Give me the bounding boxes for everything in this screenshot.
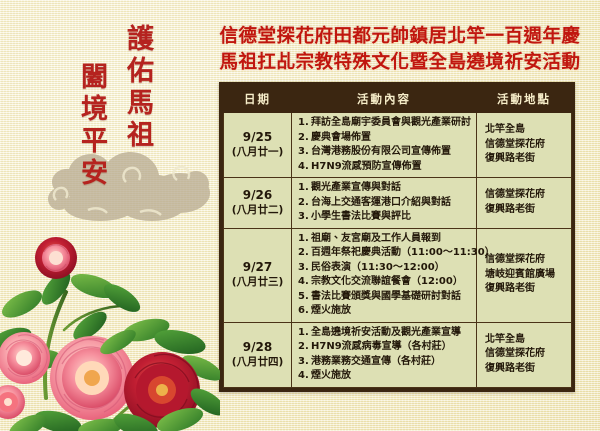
activity-item: 煙火施放 [298, 304, 472, 319]
activity-item: 書法比賽頒獎與國學基礎研討對話 [298, 290, 472, 305]
auspicious-cloud-icon [30, 138, 215, 233]
date-gregorian: 9/28 [228, 340, 287, 355]
schedule-table: 日期 活動內容 活動地點 9/25(八月廿一)拜訪全島廟宇委員會與觀光產業研討慶… [223, 86, 572, 388]
location-line: 信德堂探花府 [485, 188, 567, 203]
activity-item: 全島遶境祈安活動及觀光產業宣導 [298, 326, 472, 341]
activity-item: 民俗表演（11:30～12:00） [298, 261, 472, 276]
table-header-row: 日期 活動內容 活動地點 [224, 87, 572, 113]
activity-item: 台海上交通客運港口介紹與對話 [298, 196, 472, 211]
activity-item: 祖廟、友宮廟及工作人員報到 [298, 232, 472, 247]
location-line: 復興路老街 [485, 152, 567, 167]
date-lunar: (八月廿四) [228, 355, 287, 370]
activity-item: 拜訪全島廟宇委員會與觀光產業研討 [298, 116, 472, 131]
cell-date: 9/25(八月廿一) [224, 113, 292, 178]
table-row: 9/25(八月廿一)拜訪全島廟宇委員會與觀光產業研討慶典會場佈置台灣港務股份有限… [224, 113, 572, 178]
calligraphy-left-column: 闔境平安 [72, 62, 111, 190]
activity-list: 拜訪全島廟宇委員會與觀光產業研討慶典會場佈置台灣港務股份有限公司宣傳佈置H7N9… [296, 116, 472, 174]
activity-item: 宗教文化交流聯誼餐會（12:00） [298, 275, 472, 290]
location-line: 復興路老街 [485, 362, 567, 377]
cell-location: 北竿全島信德堂探花府復興路老街 [477, 113, 572, 178]
activity-list: 全島遶境祈安活動及觀光產業宣導H7N9流感病毒宣導（各村莊）港務業務交通宣傳（各… [296, 326, 472, 384]
title-line-2: 馬祖扛乩宗教特殊文化暨全島遶境祈安活動 [205, 50, 595, 76]
cell-activity-content: 祖廟、友宮廟及工作人員報到百週年祭祀慶典活動（11:00～11:30）民俗表演（… [292, 228, 477, 322]
table-row: 9/27(八月廿三)祖廟、友宮廟及工作人員報到百週年祭祀慶典活動（11:00～1… [224, 228, 572, 322]
activity-item: 慶典會場佈置 [298, 131, 472, 146]
cell-date: 9/28(八月廿四) [224, 322, 292, 387]
location-line: 北竿全島 [485, 123, 567, 138]
location-line: 信德堂探花府 [485, 138, 567, 153]
schedule-table-body: 9/25(八月廿一)拜訪全島廟宇委員會與觀光產業研討慶典會場佈置台灣港務股份有限… [224, 113, 572, 388]
location-line: 信德堂探花府 [485, 253, 567, 268]
cell-location: 信德堂探花府復興路老街 [477, 178, 572, 229]
cell-activity-content: 全島遶境祈安活動及觀光產業宣導H7N9流感病毒宣導（各村莊）港務業務交通宣傳（各… [292, 322, 477, 387]
location-line: 復興路老街 [485, 282, 567, 297]
date-lunar: (八月廿三) [228, 275, 287, 290]
date-lunar: (八月廿二) [228, 203, 287, 218]
activity-list: 觀光產業宣傳與對話台海上交通客運港口介紹與對話小學生書法比賽與評比 [296, 181, 472, 225]
calligraphy-right-column: 護佑馬祖 [118, 24, 157, 152]
activity-item: 台灣港務股份有限公司宣傳佈置 [298, 145, 472, 160]
activity-list: 祖廟、友宮廟及工作人員報到百週年祭祀慶典活動（11:00～11:30）民俗表演（… [296, 232, 472, 319]
header-content: 活動內容 [292, 87, 477, 113]
activity-item: 觀光產業宣傳與對話 [298, 181, 472, 196]
cell-location: 北竿全島信德堂探花府復興路老街 [477, 322, 572, 387]
date-lunar: (八月廿一) [228, 145, 287, 160]
location-line: 信德堂探花府 [485, 347, 567, 362]
date-gregorian: 9/26 [228, 188, 287, 203]
cell-location: 信德堂探花府塘岐迎賓館廣場復興路老街 [477, 228, 572, 322]
cell-activity-content: 觀光產業宣傳與對話台海上交通客運港口介紹與對話小學生書法比賽與評比 [292, 178, 477, 229]
activity-item: 煙火施放 [298, 369, 472, 384]
location-line: 復興路老街 [485, 203, 567, 218]
location-line: 北竿全島 [485, 333, 567, 348]
header-place: 活動地點 [477, 87, 572, 113]
cell-date: 9/27(八月廿三) [224, 228, 292, 322]
cell-date: 9/26(八月廿二) [224, 178, 292, 229]
schedule-table-head: 日期 活動內容 活動地點 [224, 87, 572, 113]
poster-title: 信德堂探花府田都元帥鎮居北竿一百週年慶 馬祖扛乩宗教特殊文化暨全島遶境祈安活動 [205, 24, 595, 76]
cell-activity-content: 拜訪全島廟宇委員會與觀光產業研討慶典會場佈置台灣港務股份有限公司宣傳佈置H7N9… [292, 113, 477, 178]
activity-item: H7N9流感病毒宣導（各村莊） [298, 340, 472, 355]
activity-item: 小學生書法比賽與評比 [298, 210, 472, 225]
location-line: 塘岐迎賓館廣場 [485, 268, 567, 283]
activity-item: 百週年祭祀慶典活動（11:00～11:30） [298, 246, 472, 261]
title-line-1: 信德堂探花府田都元帥鎮居北竿一百週年慶 [205, 24, 595, 50]
poster-canvas: 護佑馬祖 闔境平安 信德堂探花府田都元帥鎮居北竿一百週年慶 馬祖扛乩宗教特殊文化… [0, 0, 600, 431]
header-date: 日期 [224, 87, 292, 113]
activity-item: 港務業務交通宣傳（各村莊） [298, 355, 472, 370]
date-gregorian: 9/25 [228, 130, 287, 145]
schedule-table-container: 日期 活動內容 活動地點 9/25(八月廿一)拜訪全島廟宇委員會與觀光產業研討慶… [219, 82, 575, 392]
date-gregorian: 9/27 [228, 260, 287, 275]
peony-flowers-illustration [0, 230, 220, 431]
table-row: 9/28(八月廿四)全島遶境祈安活動及觀光產業宣導H7N9流感病毒宣導（各村莊）… [224, 322, 572, 387]
activity-item: H7N9流感預防宣傳佈置 [298, 160, 472, 175]
table-row: 9/26(八月廿二)觀光產業宣傳與對話台海上交通客運港口介紹與對話小學生書法比賽… [224, 178, 572, 229]
